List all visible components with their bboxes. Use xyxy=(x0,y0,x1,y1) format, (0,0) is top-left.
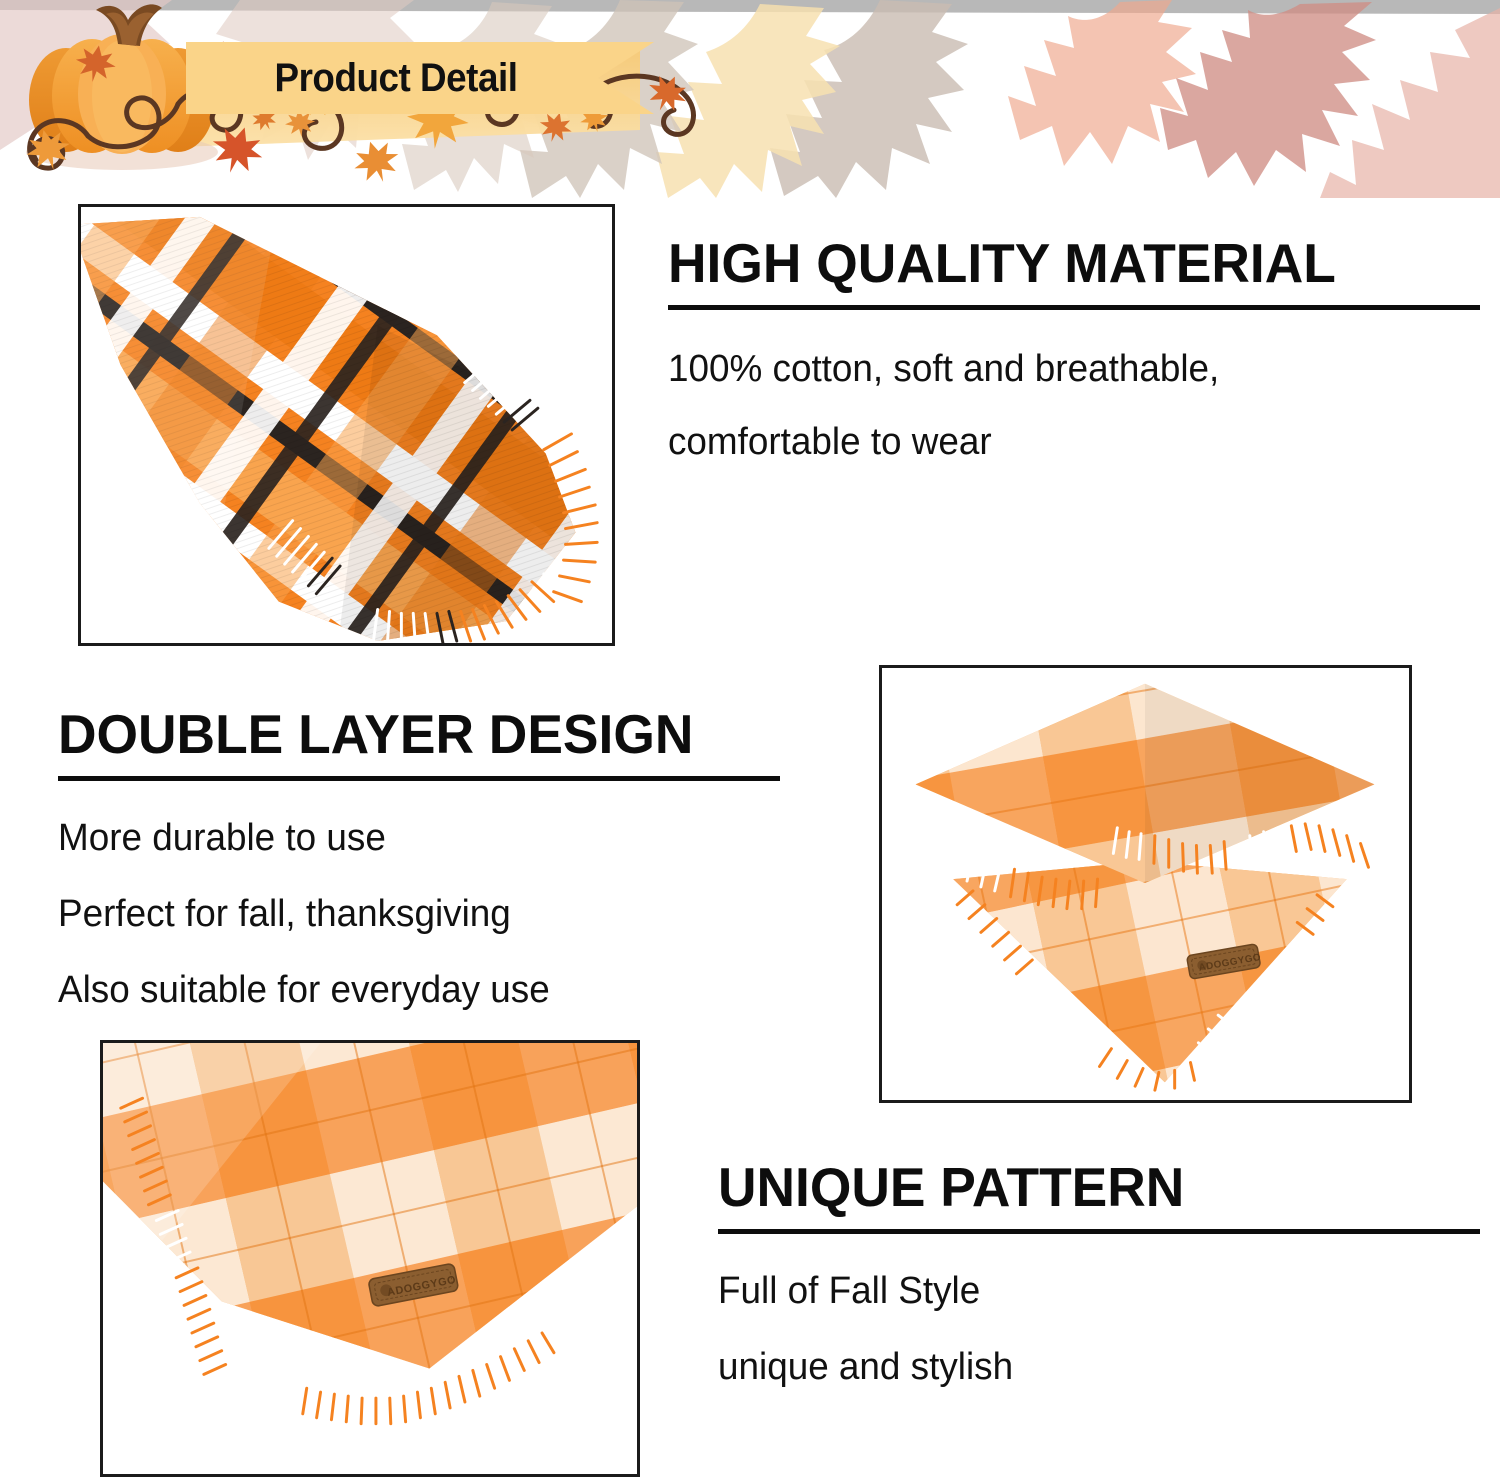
section-line-material-1: 100% cotton, soft and breathable, xyxy=(668,348,1456,391)
product-detail-page: Product Detail xyxy=(0,0,1500,1481)
section-line-material-2: comfortable to wear xyxy=(668,421,1456,464)
section-heading-material: HIGH QUALITY MATERIAL xyxy=(668,236,1456,291)
section-rule-material xyxy=(668,305,1480,310)
page-title: Product Detail xyxy=(203,42,589,114)
product-photo-fringe-detail xyxy=(78,204,615,646)
section-line-double-3: Also suitable for everyday use xyxy=(58,969,758,1012)
section-unique-pattern: UNIQUE PATTERN Full of Fall Style unique… xyxy=(718,1160,1480,1389)
section-heading-double: DOUBLE LAYER DESIGN xyxy=(58,707,758,762)
product-photo-folded-bandana: ADOGGYGO xyxy=(879,665,1412,1103)
section-line-double-2: Perfect for fall, thanksgiving xyxy=(58,893,758,936)
section-line-unique-2: unique and stylish xyxy=(718,1346,1457,1389)
section-rule-double xyxy=(58,776,780,781)
section-rule-unique xyxy=(718,1229,1480,1234)
section-heading-unique: UNIQUE PATTERN xyxy=(718,1160,1457,1215)
section-line-unique-1: Full of Fall Style xyxy=(718,1270,1457,1313)
product-photo-flat-bandana: ADOGGYGO xyxy=(100,1040,640,1477)
section-high-quality-material: HIGH QUALITY MATERIAL 100% cotton, soft … xyxy=(668,236,1480,464)
section-double-layer-design: DOUBLE LAYER DESIGN More durable to use … xyxy=(58,707,780,1012)
section-line-double-1: More durable to use xyxy=(58,817,758,860)
